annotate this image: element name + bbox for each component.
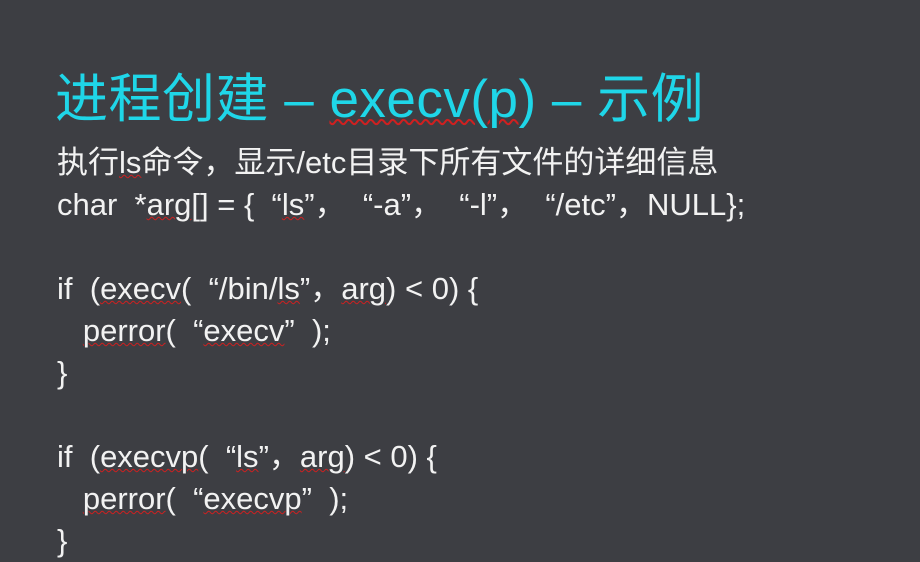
line-close-2: } [57, 520, 897, 562]
text-run: [] = { “ [191, 187, 281, 222]
line-perror-execvp: perror( “execvp” ); [57, 478, 897, 520]
line-desc: 执行ls命令，显示/etc目录下所有文件的详细信息 [57, 142, 897, 184]
misspelled-run: arg [147, 187, 192, 222]
misspelled-run: ls [236, 439, 258, 474]
text-run: 执行 [57, 145, 119, 180]
misspelled-run: perror [83, 481, 166, 516]
text-run: ” ); [302, 481, 349, 516]
text-run: ( “ [198, 439, 236, 474]
title-run: 进程创建 – [55, 70, 329, 129]
misspelled-run: execv [100, 271, 181, 306]
text-run: ”， [300, 271, 341, 306]
text-run: ) < 0) { [345, 439, 437, 474]
line-perror-execv: perror( “execv” ); [57, 310, 897, 352]
line-if-execv: if (execv( “/bin/ls”，arg) < 0) { [57, 268, 897, 310]
text-run: ” ); [284, 313, 331, 348]
title-misspelled-run: execv(p [329, 70, 518, 129]
line-blank-1 [57, 226, 897, 268]
text-run [57, 313, 83, 348]
text-run: } [57, 523, 67, 558]
line-blank-2 [57, 394, 897, 436]
text-run: if ( [57, 439, 100, 474]
text-run: ”， “-a”， “-l”， “/etc”，NULL}; [304, 187, 745, 222]
text-run: } [57, 355, 67, 390]
line-if-execvp: if (execvp( “ls”，arg) < 0) { [57, 436, 897, 478]
misspelled-run: arg [300, 439, 345, 474]
misspelled-run: ls [119, 145, 141, 180]
text-run: ”， [259, 439, 300, 474]
misspelled-run: execv [203, 313, 284, 348]
text-run: char * [57, 187, 147, 222]
line-argdecl: char *arg[] = { “ls”， “-a”， “-l”， “/etc”… [57, 184, 897, 226]
misspelled-run: arg [341, 271, 386, 306]
slide-title: 进程创建 – execv(p) – 示例 [55, 69, 704, 131]
text-run [57, 481, 83, 516]
misspelled-run: execvp [203, 481, 301, 516]
text-run: ( “ [166, 313, 204, 348]
text-run: ( “ [166, 481, 204, 516]
misspelled-run: perror [83, 313, 166, 348]
misspelled-run: execvp [100, 439, 198, 474]
presentation-slide: 进程创建 – execv(p) – 示例 执行ls命令，显示/etc目录下所有文… [0, 0, 920, 562]
title-run: ) – 示例 [519, 70, 705, 129]
slide-body-text: 执行ls命令，显示/etc目录下所有文件的详细信息char *arg[] = {… [57, 142, 897, 562]
text-run: ) < 0) { [386, 271, 478, 306]
text-run: if ( [57, 271, 100, 306]
misspelled-run: ls [282, 187, 304, 222]
misspelled-run: ls [278, 271, 300, 306]
line-close-1: } [57, 352, 897, 394]
text-run: ( “/bin/ [181, 271, 277, 306]
text-run: 命令，显示/etc目录下所有文件的详细信息 [141, 145, 718, 180]
